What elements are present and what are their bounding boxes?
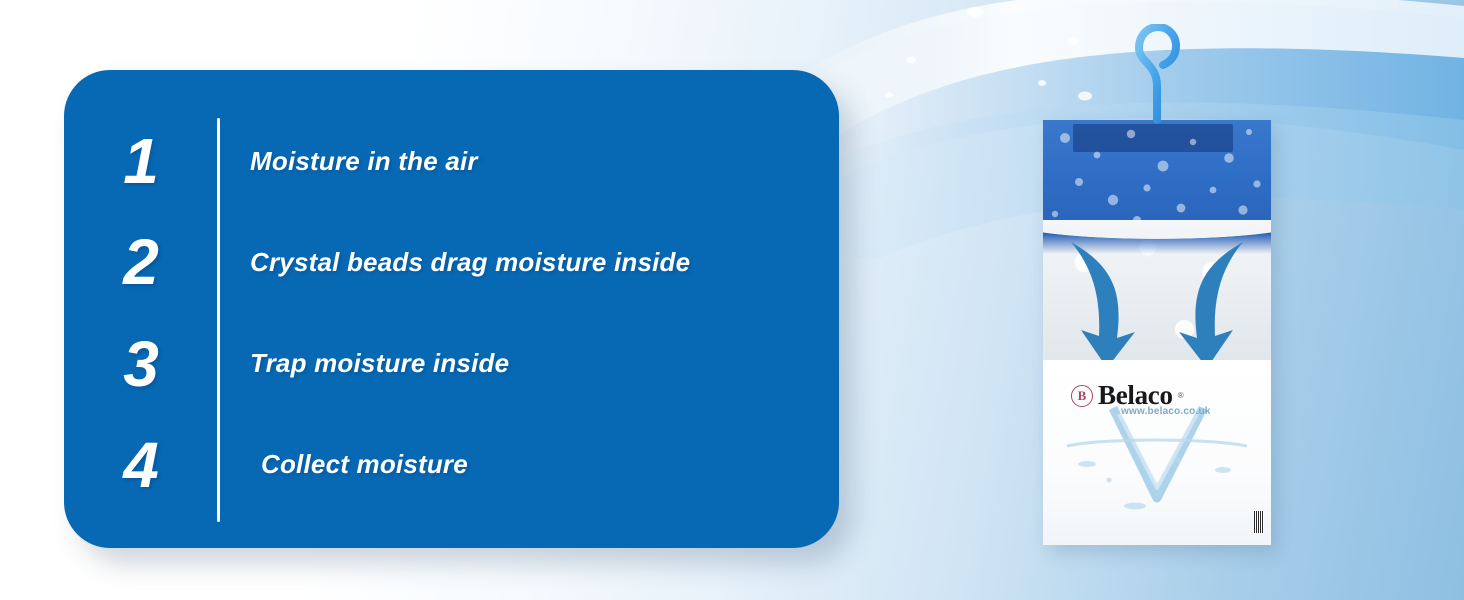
package-seal-band	[1073, 124, 1233, 152]
step-number: 1	[64, 129, 217, 193]
step-label: Collect moisture	[217, 449, 468, 480]
moisture-arrows-group	[1043, 220, 1271, 372]
down-arrow-icon	[1179, 242, 1243, 368]
steps-list: 1 Moisture in the air 2 Crystal beads dr…	[64, 114, 839, 512]
step-number: 4	[64, 433, 217, 497]
product-package: B Belaco ® www.belaco.co.uk	[1043, 120, 1271, 545]
step-item-2[interactable]: 2 Crystal beads drag moisture inside	[64, 215, 839, 309]
step-number: 3	[64, 332, 217, 396]
steps-panel: 1 Moisture in the air 2 Crystal beads dr…	[64, 70, 839, 548]
step-item-1[interactable]: 1 Moisture in the air	[64, 114, 839, 208]
step-label: Trap moisture inside	[217, 348, 509, 379]
step-item-3[interactable]: 3 Trap moisture inside	[64, 317, 839, 411]
crystal-beads-section	[1043, 220, 1271, 372]
step-item-4[interactable]: 4 Collect moisture	[64, 418, 839, 512]
step-label: Crystal beads drag moisture inside	[217, 247, 690, 278]
down-arrow-icon	[1071, 242, 1135, 368]
barcode-icon	[1254, 511, 1264, 533]
package-top-panel	[1043, 120, 1271, 234]
hanger-hook-icon	[1127, 24, 1187, 124]
brand-website: www.belaco.co.uk	[1121, 406, 1211, 417]
step-label: Moisture in the air	[217, 146, 478, 177]
package-bottom-panel: B Belaco ® www.belaco.co.uk	[1043, 360, 1271, 545]
brand-mark-icon: B	[1071, 385, 1093, 407]
infographic-canvas: 1 Moisture in the air 2 Crystal beads dr…	[0, 0, 1464, 600]
step-number: 2	[64, 230, 217, 294]
registered-trademark-icon: ®	[1178, 391, 1184, 400]
